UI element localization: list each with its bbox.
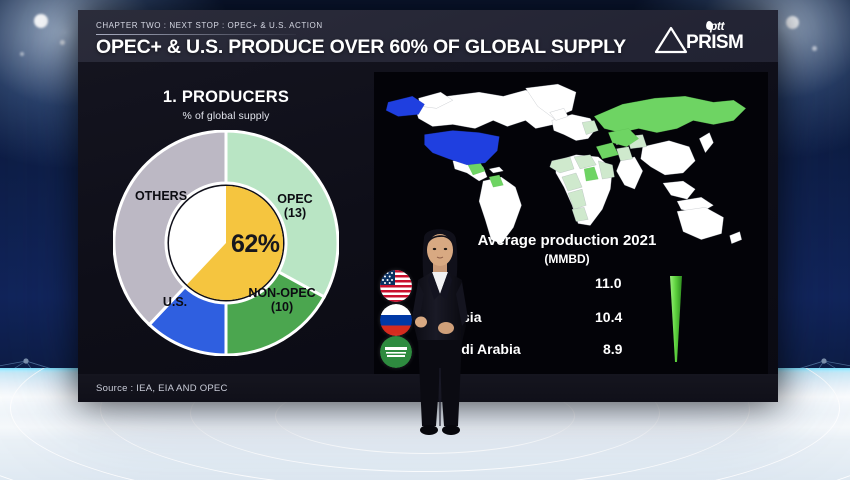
spark-light	[20, 52, 24, 56]
slice-label-us: U.S.	[147, 296, 203, 310]
slice-label-others: OTHERS	[121, 190, 201, 204]
slide-header: CHAPTER TWO : NEXT STOP : OPEC+ & U.S. A…	[78, 10, 778, 62]
spark-light	[60, 40, 65, 45]
producers-chart-section: 1. PRODUCERS % of global supply OTHERS O…	[78, 62, 374, 402]
spark-light	[812, 46, 817, 51]
prism-wordmark: PRISM	[686, 32, 743, 54]
donut-svg	[113, 130, 339, 356]
spark-light	[34, 14, 48, 28]
production-value: 11.0	[595, 275, 621, 291]
chapter-divider	[96, 34, 296, 35]
slice-label-others-text: OTHERS	[135, 189, 187, 203]
chart-subtitle: % of global supply	[78, 110, 374, 122]
slice-label-nonopec-text: NON-OPEC(10)	[248, 286, 315, 314]
slice-label-nonopec: NON-OPEC(10)	[237, 286, 327, 314]
slice-label-opec-text: OPEC(13)	[277, 192, 312, 220]
slide-headline: OPEC+ & U.S. PRODUCE OVER 60% OF GLOBAL …	[96, 36, 626, 59]
chart-title: 1. PRODUCERS	[78, 88, 374, 107]
source-label: Source : IEA, EIA AND OPEC	[96, 383, 228, 394]
presenter-figure	[388, 222, 492, 462]
center-percentage-label: 62%	[231, 230, 280, 259]
ptt-wordmark: ptt	[710, 19, 724, 33]
producers-donut-chart: OTHERS OPEC(13) NON-OPEC(10) U.S. 62%	[113, 130, 339, 356]
production-value: 8.9	[603, 341, 622, 357]
green-spike-icon	[666, 274, 686, 364]
spark-light	[786, 16, 799, 29]
chapter-label: CHAPTER TWO : NEXT STOP : OPEC+ & U.S. A…	[96, 21, 323, 30]
production-value: 10.4	[595, 309, 622, 325]
prism-logo: ptt PRISM	[654, 20, 764, 58]
slice-label-us-text: U.S.	[163, 295, 187, 309]
slice-label-opec: OPEC(13)	[259, 192, 331, 220]
triangle-icon	[654, 26, 688, 54]
